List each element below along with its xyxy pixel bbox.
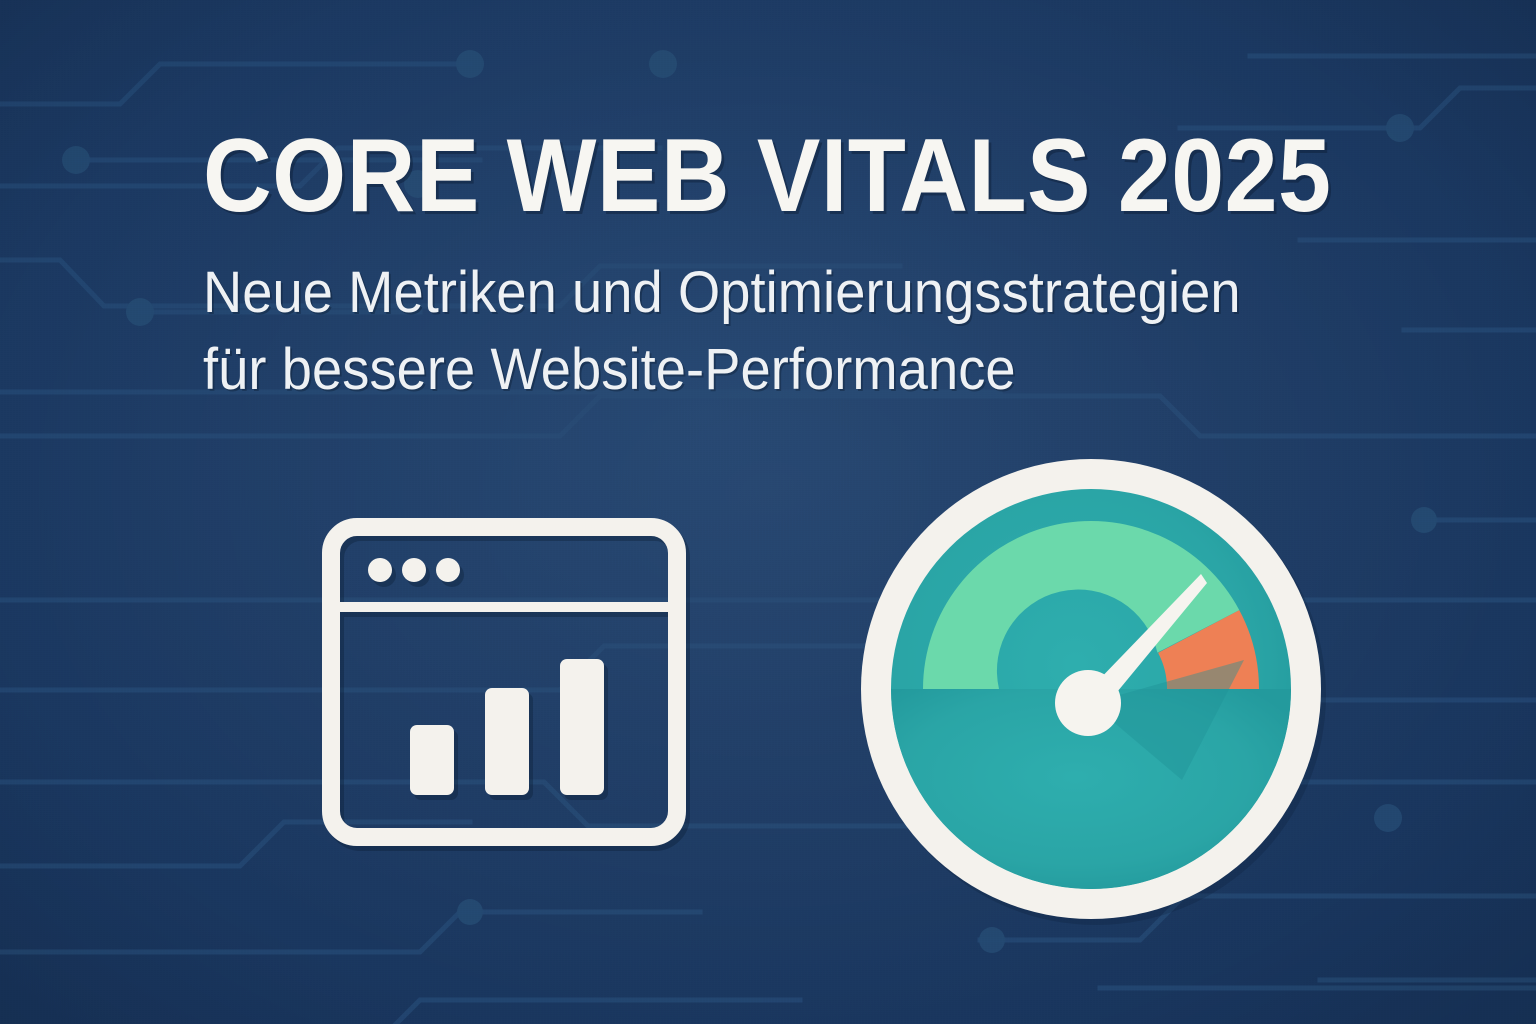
chart-bar-2 [485,688,529,795]
window-dot-2 [402,558,426,582]
browser-titlebar-divider [340,602,668,612]
performance-gauge-icon [852,450,1330,928]
window-dot-3 [436,558,460,582]
bar-chart-group [410,659,604,795]
page-subtitle: Neue Metriken und Optimierungsstrategien… [203,254,1390,408]
page-subtitle-line-2: für bessere Website-Performance [203,331,1390,408]
chart-bar-1 [410,725,454,795]
headline-block: Core Web Vitals 2025 Neue Metriken und O… [203,124,1473,408]
browser-window-dots [368,558,460,582]
gauge-needle-hub [1055,670,1121,736]
browser-window-chart-icon [322,518,686,846]
poster-canvas: Core Web Vitals 2025 Neue Metriken und O… [0,0,1536,1024]
window-dot-1 [368,558,392,582]
page-title: Core Web Vitals 2025 [203,124,1365,228]
chart-bar-3 [560,659,604,795]
page-subtitle-line-1: Neue Metriken und Optimierungsstrategien [203,254,1390,331]
